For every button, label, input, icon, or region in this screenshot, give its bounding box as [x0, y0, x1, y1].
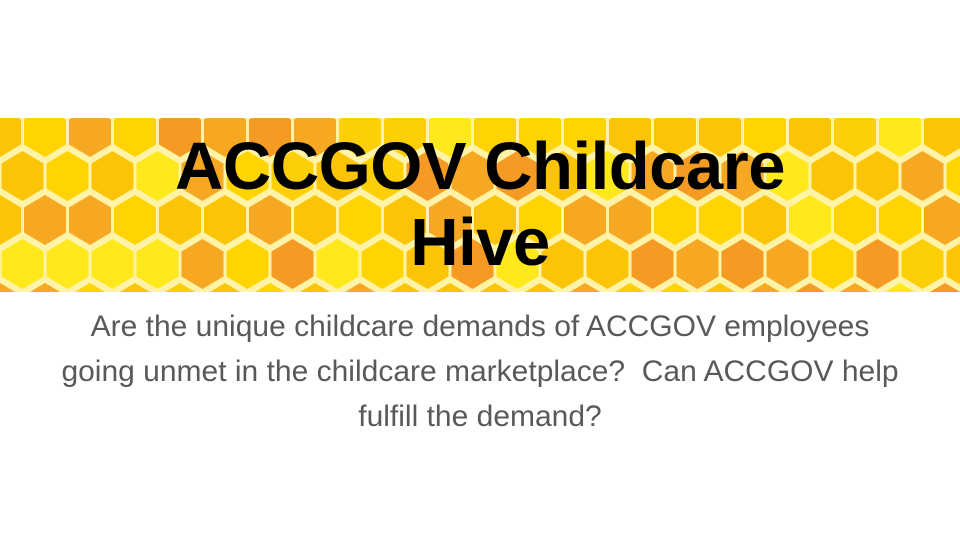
hexagon-cell	[0, 195, 21, 245]
hexagon-cell	[744, 118, 786, 157]
hexagon-cell	[384, 118, 426, 157]
hexagon-cell	[857, 239, 899, 289]
hexagon-cell	[834, 118, 876, 157]
subtitle-block: Are the unique childcare demands of ACCG…	[60, 304, 900, 439]
hexagon-cell	[69, 118, 111, 157]
presentation-slide: ACCGOV Childcare Hive Are the unique chi…	[0, 0, 960, 540]
hexagon-cell	[767, 151, 809, 201]
hexagon-cell	[182, 239, 224, 289]
hexagon-cell	[564, 195, 606, 245]
hexagon-cell	[677, 239, 719, 289]
hexagon-cell	[24, 195, 66, 245]
hexagon-cell	[24, 118, 66, 157]
hexagon-cell	[452, 151, 494, 201]
hexagon-cell	[542, 151, 584, 201]
hexagon-cell	[812, 239, 854, 289]
hexagon-cell	[339, 195, 381, 245]
hexagon-cell	[519, 195, 561, 245]
hexagon-cell	[429, 118, 471, 157]
hexagon-cell	[542, 239, 584, 289]
hexagon-cell	[384, 195, 426, 245]
hexagon-cell	[902, 239, 944, 289]
hexagon-cell	[407, 239, 449, 289]
hexagon-cell	[159, 195, 201, 245]
hexagon-cell	[497, 151, 539, 201]
hexagon-cell	[879, 195, 921, 245]
hexagon-cell	[137, 239, 179, 289]
hexagon-cell	[137, 151, 179, 201]
hexagon-cell	[497, 239, 539, 289]
hexagon-cell	[834, 195, 876, 245]
hexagon-cell	[249, 118, 291, 157]
hexagon-cell	[677, 151, 719, 201]
hexagon-cell	[294, 195, 336, 245]
hexagon-cell	[924, 118, 960, 157]
hexagon-cell	[47, 151, 89, 201]
hexagon-cell	[362, 239, 404, 289]
hexagon-cell	[317, 151, 359, 201]
hexagon-cell	[339, 118, 381, 157]
hexagon-cell	[812, 151, 854, 201]
hexagon-cell	[699, 195, 741, 245]
hexagon-cell	[114, 118, 156, 157]
hexagon-cell	[249, 195, 291, 245]
hexagon-cell	[2, 239, 44, 289]
hexagon-cell	[227, 151, 269, 201]
hexagon-cell	[0, 118, 21, 157]
honeycomb-pattern-band	[0, 118, 960, 292]
hexagon-cell	[722, 151, 764, 201]
hexagon-cell	[204, 195, 246, 245]
hexagon-cell	[474, 118, 516, 157]
hexagon-cell	[744, 195, 786, 245]
hexagon-cell	[609, 118, 651, 157]
hexagon-cell	[609, 195, 651, 245]
hexagon-cell	[272, 239, 314, 289]
hexagon-cell	[924, 195, 960, 245]
hexagon-cell	[272, 151, 314, 201]
hexagon-cell	[699, 118, 741, 157]
hexagon-cell	[92, 151, 134, 201]
hexagon-cell	[474, 195, 516, 245]
hexagon-cell	[902, 151, 944, 201]
hexagon-cell	[159, 118, 201, 157]
hexagon-cell	[857, 151, 899, 201]
hexagon-cell	[294, 118, 336, 157]
hexagon-cell	[2, 151, 44, 201]
hexagon-cell	[362, 151, 404, 201]
hexagon-cell	[587, 239, 629, 289]
hexagon-cell	[407, 151, 449, 201]
hexagon-cell	[789, 118, 831, 157]
hexagon-cell	[182, 151, 224, 201]
hexagon-cell	[947, 151, 960, 201]
hexagon-cell	[92, 239, 134, 289]
hexagon-cell	[227, 239, 269, 289]
hexagon-cell	[114, 195, 156, 245]
hexagon-cell	[452, 239, 494, 289]
hexagon-cell	[722, 239, 764, 289]
hexagon-cell	[317, 239, 359, 289]
slide-subtitle: Are the unique childcare demands of ACCG…	[60, 304, 900, 439]
hexagon-cell	[47, 239, 89, 289]
hexagon-cell	[587, 151, 629, 201]
hexagon-cell	[947, 239, 960, 289]
honeycomb-hexagon-grid	[0, 118, 960, 292]
hexagon-cell	[654, 118, 696, 157]
hexagon-cell	[204, 118, 246, 157]
hexagon-cell	[879, 118, 921, 157]
hexagon-cell	[654, 195, 696, 245]
hexagon-cell	[429, 195, 471, 245]
hexagon-cell	[564, 118, 606, 157]
hexagon-cell	[632, 151, 674, 201]
hexagon-cell	[767, 239, 809, 289]
hexagon-cell	[789, 195, 831, 245]
hexagon-cell	[69, 195, 111, 245]
hexagon-cell	[519, 118, 561, 157]
hexagon-cell	[632, 239, 674, 289]
